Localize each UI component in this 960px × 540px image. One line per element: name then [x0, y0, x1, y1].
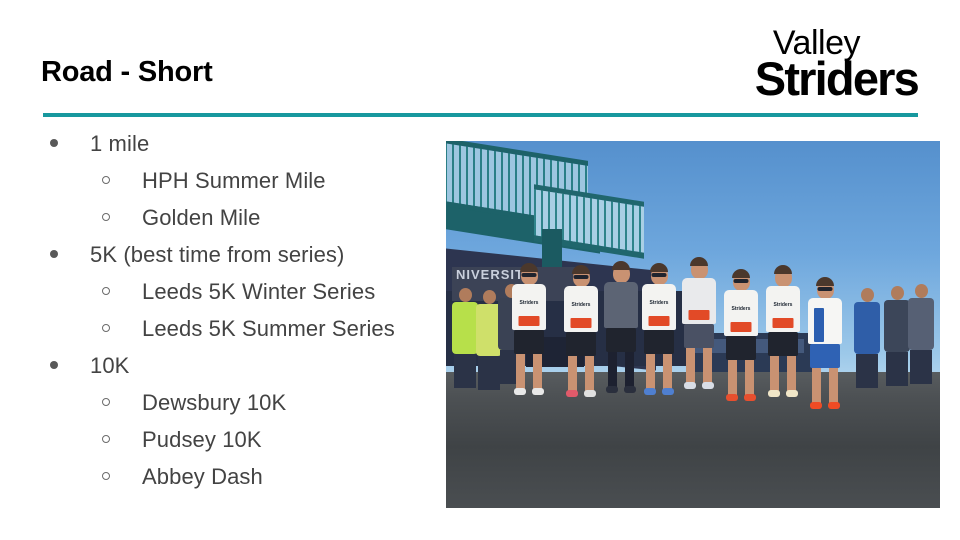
list-item-label: HPH Summer Mile: [142, 168, 326, 194]
list-item-label: 10K: [90, 353, 129, 379]
list-item-label: Leeds 5K Summer Series: [142, 316, 395, 342]
list-item-label: Abbey Dash: [142, 464, 263, 490]
list-item-label: 1 mile: [90, 131, 149, 157]
list-item: Dewsbury 10K: [41, 390, 451, 427]
list-item: Golden Mile: [41, 205, 451, 242]
photo-frame: [446, 141, 940, 508]
list-item-label: Golden Mile: [142, 205, 261, 231]
list-item: 5K (best time from series): [41, 242, 451, 279]
bullet-filled-icon: [41, 139, 69, 147]
slide: Road - Short Valley Striders 1 mile HPH …: [0, 0, 960, 540]
bullet-hollow-icon: [93, 472, 121, 480]
bullet-hollow-icon: [93, 398, 121, 406]
page-title: Road - Short: [41, 56, 213, 89]
bullet-filled-icon: [41, 361, 69, 369]
list-item-label: Pudsey 10K: [142, 427, 262, 453]
bullet-filled-icon: [41, 250, 69, 258]
valley-striders-logo: Valley Striders: [755, 26, 918, 102]
bullet-hollow-icon: [93, 435, 121, 443]
list-item: 1 mile: [41, 131, 451, 168]
list-item: 10K: [41, 353, 451, 390]
logo-line-striders: Striders: [755, 55, 918, 102]
list-item: Abbey Dash: [41, 464, 451, 501]
list-item: HPH Summer Mile: [41, 168, 451, 205]
title-divider-rule: [43, 113, 918, 117]
list-item: Leeds 5K Summer Series: [41, 316, 451, 353]
list-item-label: 5K (best time from series): [90, 242, 344, 268]
bullet-hollow-icon: [93, 213, 121, 221]
bullet-hollow-icon: [93, 287, 121, 295]
list-item-label: Leeds 5K Winter Series: [142, 279, 375, 305]
bullet-hollow-icon: [93, 324, 121, 332]
bullet-list: 1 mile HPH Summer Mile Golden Mile 5K (b…: [41, 131, 451, 501]
list-item-label: Dewsbury 10K: [142, 390, 286, 416]
bullet-hollow-icon: [93, 176, 121, 184]
race-group-photo: NIVERSITY Striders: [446, 141, 940, 508]
list-item: Pudsey 10K: [41, 427, 451, 464]
list-item: Leeds 5K Winter Series: [41, 279, 451, 316]
